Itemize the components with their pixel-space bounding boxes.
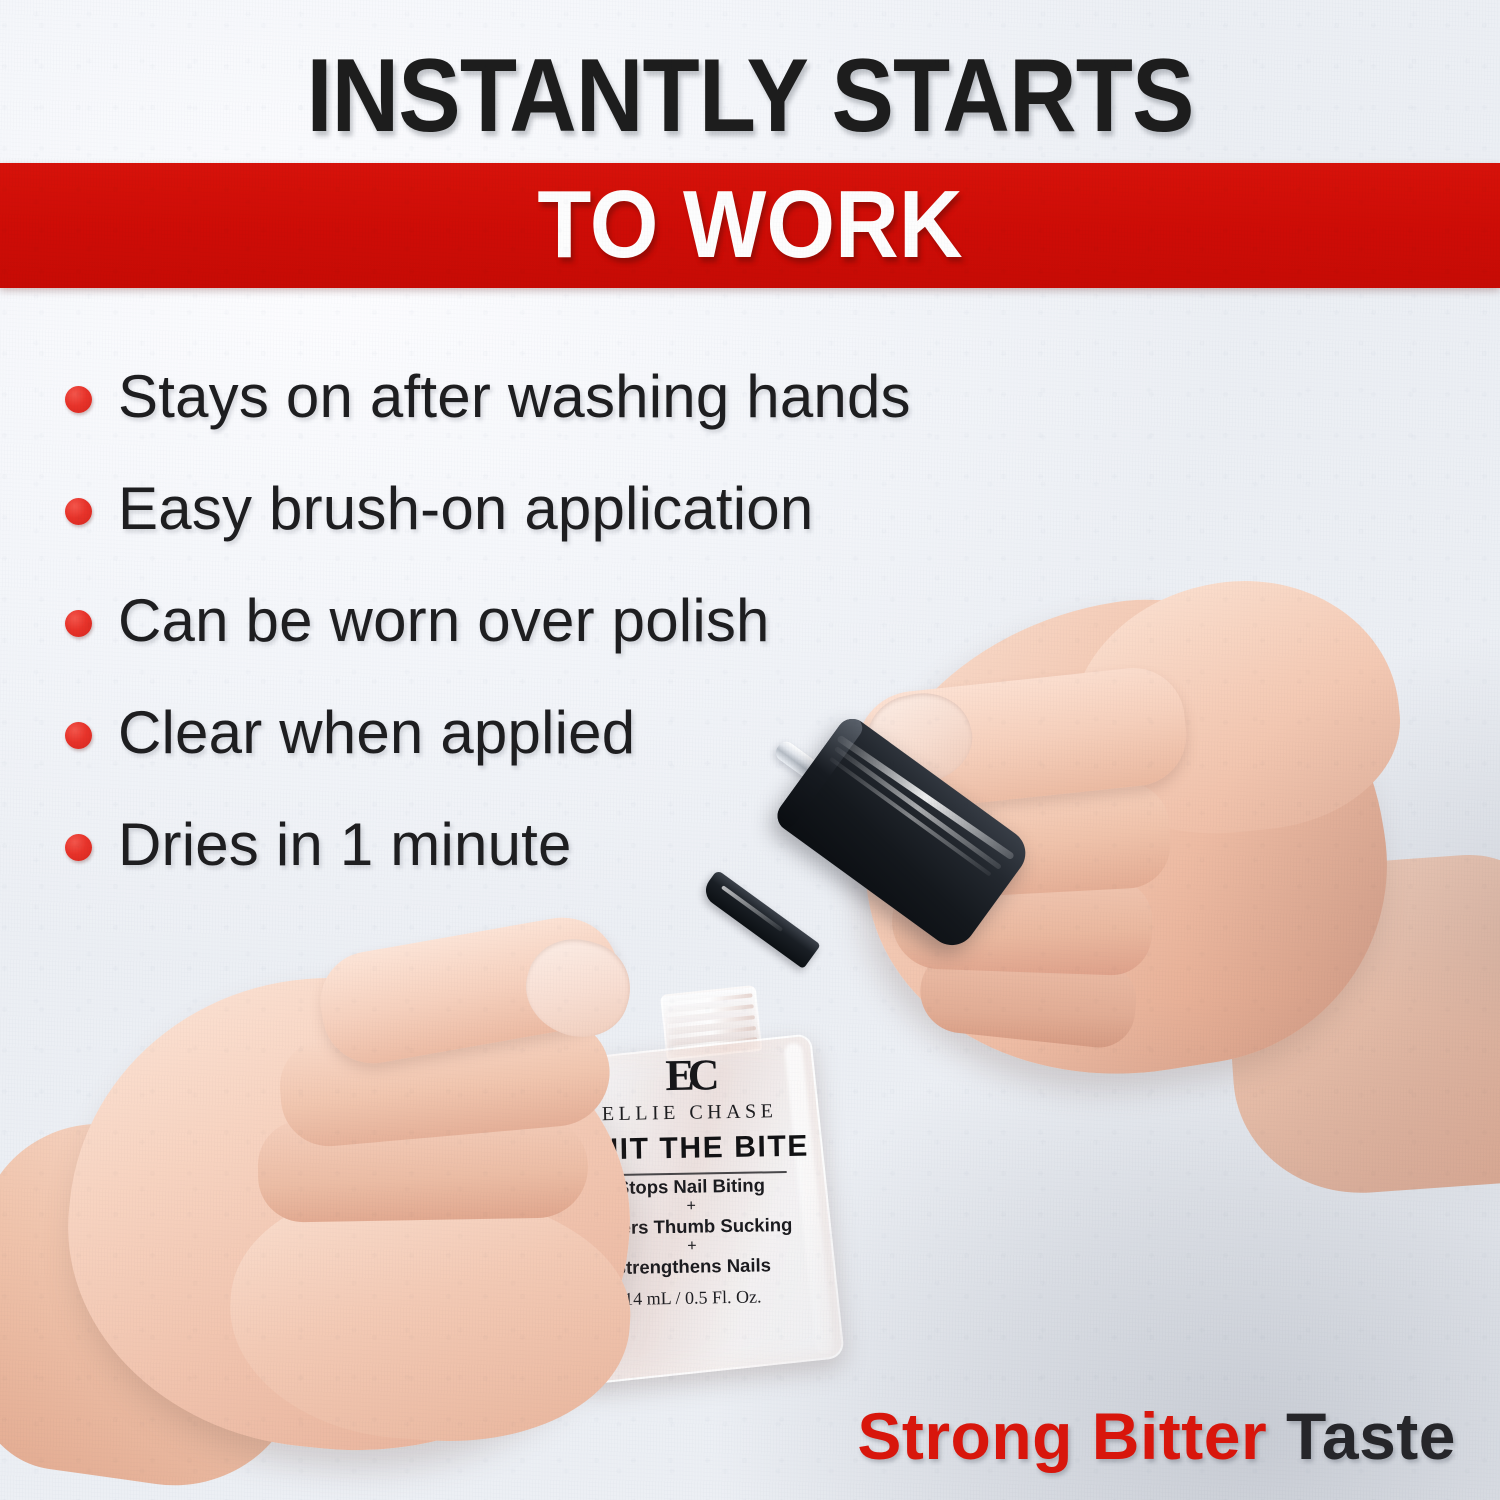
- cap-highlight: [834, 746, 1002, 870]
- bullet-dot-icon: [65, 498, 92, 525]
- bullet-dot-icon: [65, 386, 92, 413]
- benefit-label: Easy brush-on application: [118, 472, 813, 546]
- headline-red-band: TO WORK: [0, 163, 1500, 288]
- product-benefit-poster: INSTANTLY STARTS TO WORK Stays on after …: [0, 0, 1500, 1500]
- headline-line-2: TO WORK: [60, 176, 1440, 274]
- bottom-tagline: Strong Bitter Taste: [857, 1400, 1456, 1472]
- tagline-rest: Taste: [1267, 1399, 1456, 1473]
- left-hand: [30, 860, 750, 1500]
- bottle-cap: [771, 713, 1035, 955]
- cap-and-brush: [690, 690, 1110, 1170]
- tagline-highlight: Strong Bitter: [857, 1399, 1267, 1473]
- benefit-label: Stays on after washing hands: [118, 360, 911, 434]
- list-item: Stays on after washing hands: [58, 360, 1118, 472]
- headline-line-1: INSTANTLY STARTS: [75, 44, 1425, 148]
- product-photo: EC ELLIE CHASE QUIT THE BITE Stops Nail …: [0, 560, 1500, 1500]
- cap-highlight: [829, 757, 992, 877]
- cap-highlight: [836, 735, 1015, 861]
